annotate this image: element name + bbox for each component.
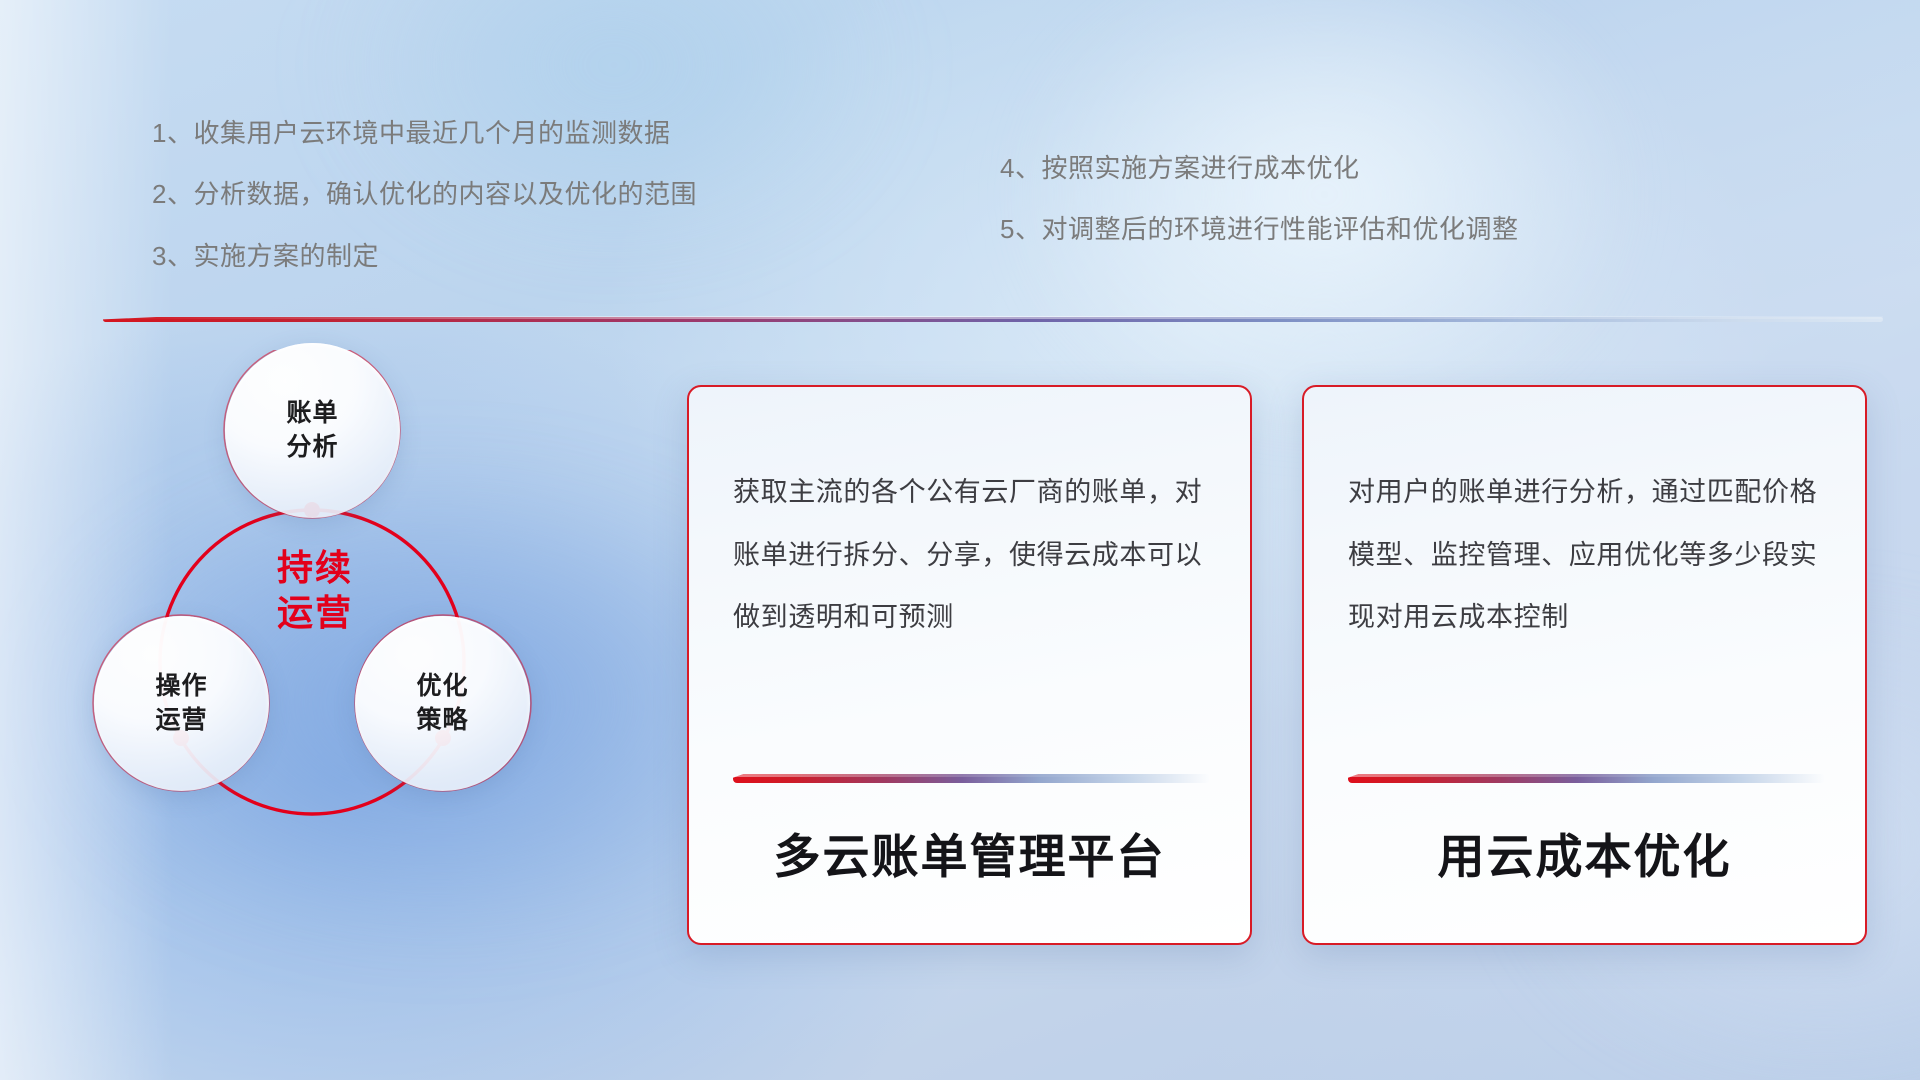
bubble-operation-label: 操作 运营 [155,670,207,737]
step-item-3: 3、实施方案的制定 [152,243,697,270]
bubble-bill-analysis-label: 账单 分析 [286,397,338,464]
bubble-left-line2: 运营 [155,706,207,734]
bubble-right-line2: 策略 [416,706,468,734]
divider-highlight [103,316,1883,319]
card-1-title: 多云账单管理平台 [689,818,1250,887]
card-1-body: 获取主流的各个公有云厂商的账单，对账单进行拆分、分享，使得云成本可以做到透明和可… [733,461,1206,649]
bubble-right-line1: 优化 [416,672,468,700]
bubble-top-line2: 分析 [286,433,338,461]
bubble-left-line1: 操作 [155,672,207,700]
continuous-operation-diagram: 账单 分析 操作 运营 优化 策略 持续 运营 [80,350,640,920]
card-cloud-cost-optimization[interactable]: 对用户的账单进行分析，通过匹配价格模型、监控管理、应用优化等多少段实现对用云成本… [1302,385,1867,945]
diagram-center-title: 持续 运营 [220,525,410,655]
card-2-body: 对用户的账单进行分析，通过匹配价格模型、监控管理、应用优化等多少段实现对用云成本… [1348,461,1821,649]
card-2-accent-rule [1348,774,1825,783]
center-line-2: 运营 [277,592,353,633]
center-line-1: 持续 [277,547,353,588]
step-item-2: 2、分析数据，确认优化的内容以及优化的范围 [152,181,697,208]
bubble-bill-analysis[interactable]: 账单 分析 [225,343,400,518]
card-1-accent-rule [733,774,1210,783]
bubble-optimization-strategy-label: 优化 策略 [416,670,468,737]
steps-list-left: 1、收集用户云环境中最近几个月的监测数据 2、分析数据，确认优化的内容以及优化的… [152,120,697,304]
steps-list-right: 4、按照实施方案进行成本优化 5、对调整后的环境进行性能评估和优化调整 [1000,155,1518,278]
diagram-center-title-text: 持续 运营 [277,545,353,635]
card-2-title: 用云成本优化 [1304,818,1865,887]
section-divider [103,316,1883,324]
card-multicloud-billing[interactable]: 获取主流的各个公有云厂商的账单，对账单进行拆分、分享，使得云成本可以做到透明和可… [687,385,1252,945]
step-item-5: 5、对调整后的环境进行性能评估和优化调整 [1000,216,1518,243]
step-item-4: 4、按照实施方案进行成本优化 [1000,155,1518,182]
step-item-1: 1、收集用户云环境中最近几个月的监测数据 [152,120,697,147]
bubble-top-line1: 账单 [286,399,338,427]
